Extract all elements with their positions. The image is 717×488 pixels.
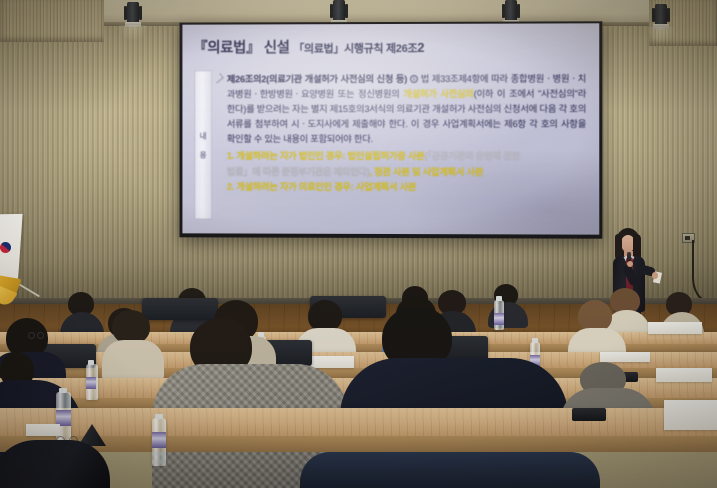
water-bottle: [152, 418, 166, 466]
presenter-right-hand: [652, 272, 658, 279]
bottle-cap: [59, 388, 67, 393]
water-bottle: [86, 364, 98, 400]
bottle-cap: [155, 414, 163, 419]
attendee-body: [0, 440, 110, 488]
chair-back: [142, 298, 218, 320]
paper-sheet: [600, 352, 650, 362]
presenter-left-hand: [627, 261, 633, 267]
bottle-cap: [532, 338, 538, 343]
attendee-head: [112, 310, 150, 344]
lecture-desk-front: [0, 436, 717, 452]
bottle-label: [86, 377, 96, 389]
taeguk-symbol-icon: [0, 242, 11, 253]
water-bottle: [494, 300, 504, 330]
bottle-label: [494, 313, 504, 325]
paper-sheet: [26, 424, 60, 436]
bottle-label: [152, 432, 166, 448]
bottle-cap: [88, 360, 94, 365]
lens-right: [37, 332, 44, 339]
bottle-cap: [496, 296, 502, 301]
smartphone: [572, 408, 606, 421]
attendee-body: [102, 340, 164, 380]
lecture-hall-photo: 『의료법』 신설 「의료법」시행규칙 제26조2 내 용 제26조의2(의료기관…: [0, 0, 717, 488]
eyeglasses: [28, 332, 44, 340]
attendee-body: [300, 452, 600, 488]
paper-sheet: [664, 400, 717, 430]
paper-sheet: [648, 322, 702, 334]
paper-sheet: [656, 368, 712, 382]
lecture-desk: [0, 408, 717, 438]
lens-left: [28, 332, 35, 339]
